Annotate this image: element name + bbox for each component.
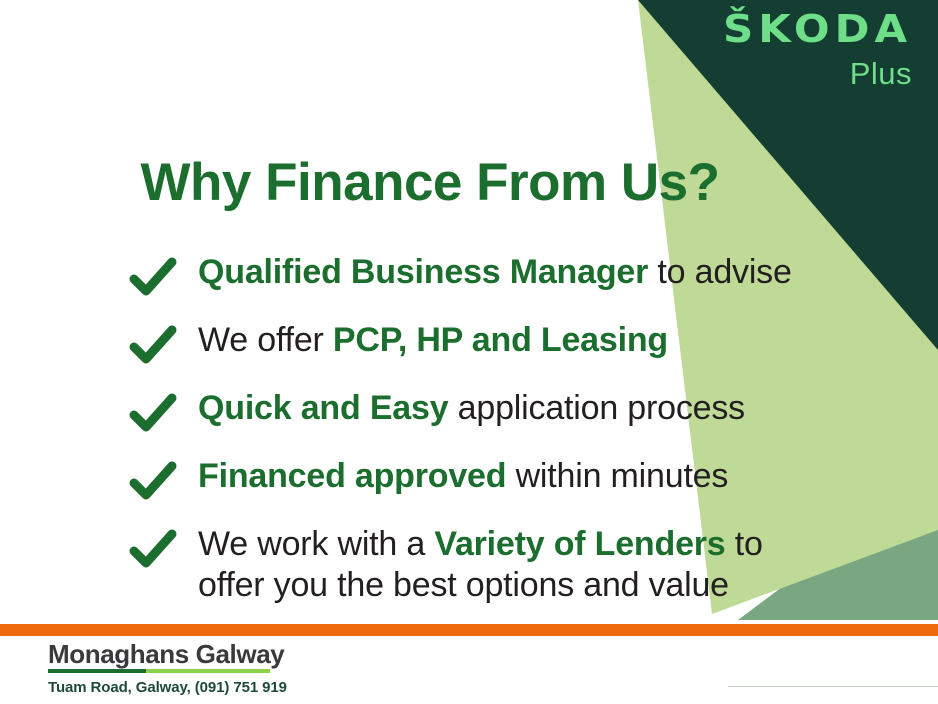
corner-divider xyxy=(728,686,938,687)
check-icon xyxy=(128,526,178,572)
check-icon xyxy=(128,322,178,368)
page-title: Why Finance From Us? xyxy=(0,152,860,213)
list-item-plain: We offer xyxy=(198,321,333,359)
list-item: Financed approved within minutes xyxy=(128,454,828,504)
underline-segment-dark xyxy=(48,669,146,673)
list-item-plain: We work with a xyxy=(198,525,434,563)
check-icon xyxy=(128,390,178,436)
dealer-name: Monaghans Galway xyxy=(48,640,287,668)
list-item-text: Qualified Business Manager to advise xyxy=(198,250,792,293)
benefits-list: Qualified Business Manager to advise We … xyxy=(128,250,828,624)
skoda-plus-sublabel: Plus xyxy=(723,58,912,89)
list-item: Quick and Easy application process xyxy=(128,386,828,436)
underline-segment-light xyxy=(146,669,270,673)
list-item-emphasis: Quick and Easy xyxy=(198,389,448,427)
list-item-emphasis: PCP, HP and Leasing xyxy=(333,321,668,359)
list-item-text: We work with a Variety of Lenders to off… xyxy=(198,522,828,606)
list-item-plain: to advise xyxy=(648,253,792,291)
list-item-emphasis: Financed approved xyxy=(198,457,506,495)
skoda-plus-logo: ŠKODA Plus xyxy=(723,10,912,89)
list-item: Qualified Business Manager to advise xyxy=(128,250,828,300)
list-item-plain: application process xyxy=(448,389,745,427)
list-item-text: We offer PCP, HP and Leasing xyxy=(198,318,668,361)
list-item-emphasis: Variety of Lenders xyxy=(434,525,725,563)
dealer-underline xyxy=(48,669,270,673)
list-item-text: Financed approved within minutes xyxy=(198,454,728,497)
check-icon xyxy=(128,458,178,504)
dealer-address: Tuam Road, Galway, (091) 751 919 xyxy=(48,679,287,696)
list-item-emphasis: Qualified Business Manager xyxy=(198,253,648,291)
promo-poster: ŠKODA Plus Why Finance From Us? Qualifie… xyxy=(0,0,938,704)
list-item: We offer PCP, HP and Leasing xyxy=(128,318,828,368)
list-item-text: Quick and Easy application process xyxy=(198,386,745,429)
list-item: We work with a Variety of Lenders to off… xyxy=(128,522,828,606)
skoda-wordmark: ŠKODA xyxy=(723,10,912,49)
list-item-plain: within minutes xyxy=(506,457,728,495)
accent-bar xyxy=(0,624,938,636)
check-icon xyxy=(128,254,178,300)
dealer-footer: Monaghans Galway Tuam Road, Galway, (091… xyxy=(48,640,287,696)
